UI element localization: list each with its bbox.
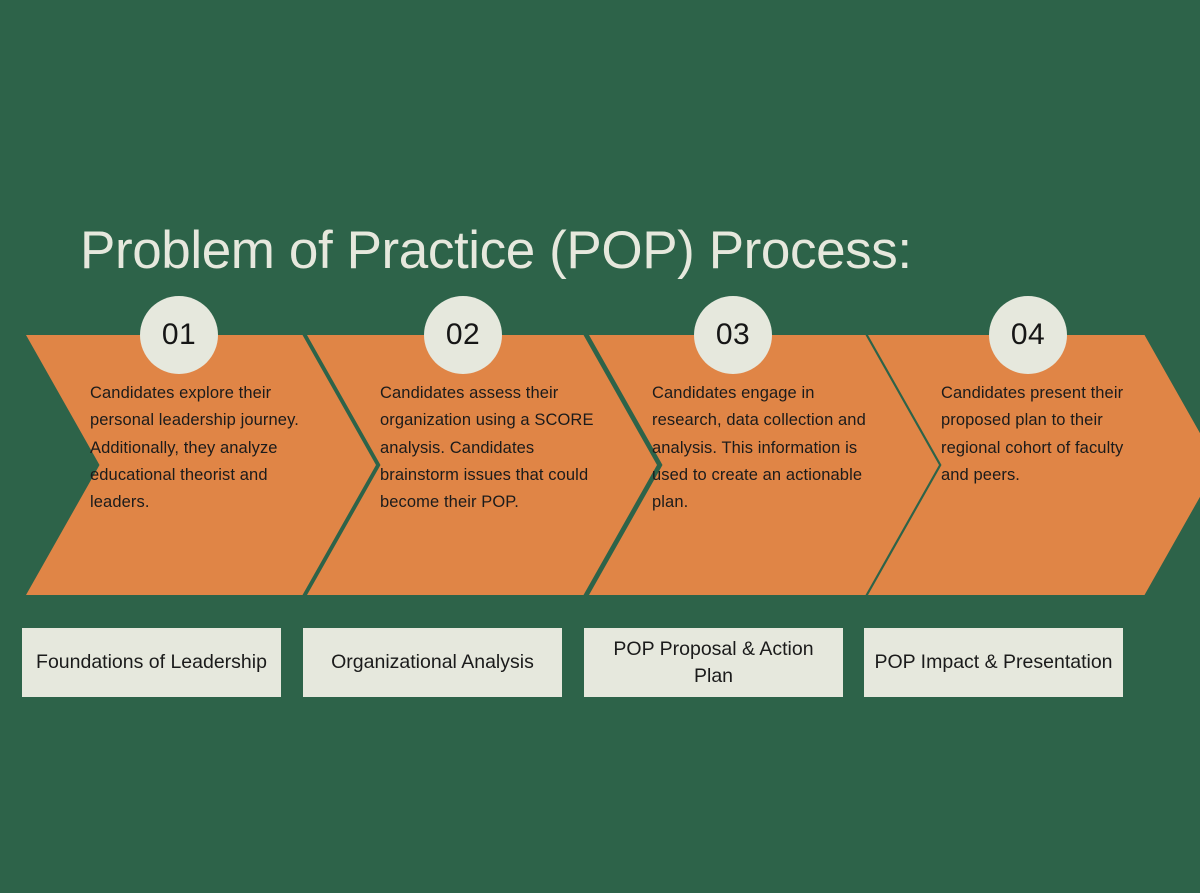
pop-process-slide: Problem of Practice (POP) Process: Candi… [0,0,1200,893]
step-number-badge-1: 01 [140,296,218,374]
step-label-2: Organizational Analysis [303,628,562,697]
step-description-4: Candidates present their proposed plan t… [941,380,1126,489]
step-description-3: Candidates engage in research, data coll… [652,380,867,516]
step-description-1: Candidates explore their personal leader… [90,380,305,516]
page-title: Problem of Practice (POP) Process: [80,219,912,283]
step-number-badge-4: 04 [989,296,1067,374]
step-description-2: Candidates assess their organization usi… [380,380,595,516]
step-number-badge-2: 02 [424,296,502,374]
step-label-4: POP Impact & Presentation [864,628,1123,697]
step-label-3: POP Proposal & Action Plan [584,628,843,697]
step-number-badge-3: 03 [694,296,772,374]
step-label-1: Foundations of Leadership [22,628,281,697]
